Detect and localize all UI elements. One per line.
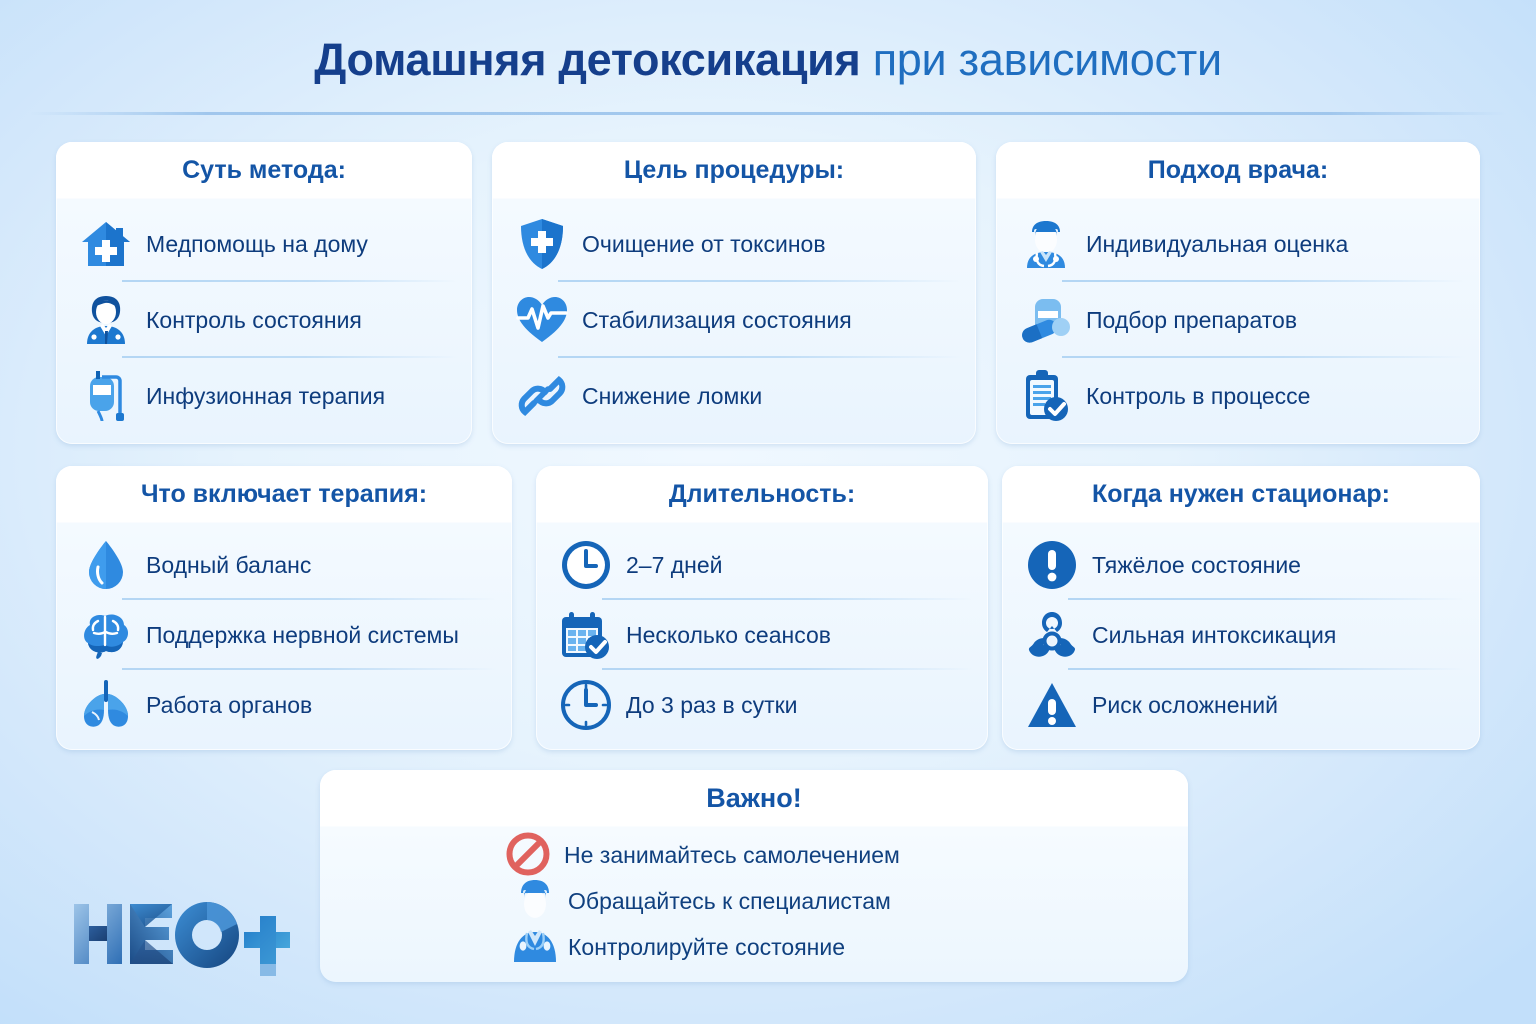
- list-item[interactable]: Инфузионная терапия: [56, 358, 472, 434]
- card-tsel-protsedury: Цель процедуры: Очищение от токсинов Ста…: [492, 142, 976, 444]
- list-item[interactable]: Не занимайтесь самолечением: [320, 832, 1188, 878]
- lungs-icon: [78, 677, 134, 733]
- house-cross-icon: [78, 216, 134, 272]
- water-drop-icon: [78, 537, 134, 593]
- list-item-label: Индивидуальная оценка: [1086, 231, 1348, 258]
- biohazard-icon: [1024, 607, 1080, 663]
- card-body: Тяжёлое состояние Сильная интоксикация: [1002, 522, 1480, 740]
- list-item[interactable]: Стабилизация состояния: [492, 282, 976, 358]
- list-item[interactable]: 2–7 дней: [536, 530, 988, 600]
- list-item[interactable]: Контроль в процессе: [996, 358, 1480, 434]
- brain-icon: [78, 607, 134, 663]
- clipboard-check-icon: [1018, 368, 1074, 424]
- exclamation-circle-icon: [1024, 537, 1080, 593]
- list-item[interactable]: Медпомощь на дому: [56, 206, 472, 282]
- list-item-label: Несколько сеансов: [626, 622, 831, 649]
- list-item[interactable]: Риск осложнений: [1002, 670, 1480, 740]
- page-title-strong: Домашняя детоксикация: [314, 34, 860, 85]
- list-item[interactable]: Подбор препаратов: [996, 282, 1480, 358]
- card-header: Цель процедуры:: [492, 142, 976, 198]
- card-podkhod-vracha: Подход врача: Индивидуальная оценка: [996, 142, 1480, 444]
- list-item-label: Риск осложнений: [1092, 692, 1278, 719]
- card-body: Медпомощь на дому Контроль состояния: [56, 198, 472, 434]
- card-chto-vklyuchaet-terapiya: Что включает терапия: Водный баланс: [56, 466, 512, 750]
- list-item[interactable]: Обращайтесь к специалистам: [320, 878, 1188, 924]
- heart-pulse-icon: [514, 292, 570, 348]
- card-header: Важно!: [320, 770, 1188, 826]
- medical-staff-icon: [510, 876, 560, 964]
- card-kogda-nuzhen-statsionar: Когда нужен стационар: Тяжёлое состояние: [1002, 466, 1480, 750]
- doctor-person-icon: [78, 292, 134, 348]
- list-item[interactable]: Работа органов: [56, 670, 512, 740]
- page-title-light: при зависимости: [861, 34, 1222, 85]
- card-header: Суть метода:: [56, 142, 472, 198]
- clock-icon: [558, 537, 614, 593]
- card-header: Длительность:: [536, 466, 988, 522]
- list-item-label: Работа органов: [146, 692, 312, 719]
- list-item-label: Водный баланс: [146, 552, 311, 579]
- card-body: Очищение от токсинов Стабилизация состоя…: [492, 198, 976, 434]
- list-item-label: 2–7 дней: [626, 552, 723, 579]
- card-vazhno: Важно! Не занимайтесь самол: [320, 770, 1188, 982]
- calendar-check-icon: [558, 607, 614, 663]
- chain-link-icon: [514, 368, 570, 424]
- pills-icon: [1018, 292, 1074, 348]
- list-item-label: Инфузионная терапия: [146, 383, 385, 410]
- list-item[interactable]: Снижение ломки: [492, 358, 976, 434]
- list-item-label: Медпомощь на дому: [146, 231, 368, 258]
- prohibition-icon: [506, 832, 550, 876]
- important-list: Не занимайтесь самолечением Обращайтесь …: [320, 826, 1188, 970]
- card-header: Подход врача:: [996, 142, 1480, 198]
- list-item[interactable]: Поддержка нервной системы: [56, 600, 512, 670]
- list-item[interactable]: Контролируйте состояние: [320, 924, 1188, 970]
- list-item-label: До 3 раз в сутки: [626, 692, 798, 719]
- list-item[interactable]: Очищение от токсинов: [492, 206, 976, 282]
- list-item-label: Контролируйте состояние: [568, 934, 845, 961]
- list-item-label: Не занимайтесь самолечением: [564, 842, 900, 869]
- card-header: Что включает терапия:: [56, 466, 512, 522]
- list-item[interactable]: Водный баланс: [56, 530, 512, 600]
- page-title: Домашняя детоксикация при зависимости: [0, 34, 1536, 86]
- card-header: Когда нужен стационар:: [1002, 466, 1480, 522]
- card-dlitelnost: Длительность: 2–7 дней: [536, 466, 988, 750]
- list-item-label: Тяжёлое состояние: [1092, 552, 1301, 579]
- card-body: Индивидуальная оценка Подбор препаратов: [996, 198, 1480, 434]
- list-item-label: Обращайтесь к специалистам: [568, 888, 891, 915]
- list-item-label: Сильная интоксикация: [1092, 622, 1336, 649]
- list-item[interactable]: Индивидуальная оценка: [996, 206, 1480, 282]
- card-body: 2–7 дней Нескольк: [536, 522, 988, 740]
- shield-cross-icon: [514, 216, 570, 272]
- doctor-stethoscope-icon: [1018, 216, 1074, 272]
- list-item[interactable]: До 3 раз в сутки: [536, 670, 988, 740]
- card-body: Водный баланс Поддержка: [56, 522, 512, 740]
- list-item[interactable]: Тяжёлое состояние: [1002, 530, 1480, 600]
- list-item-label: Подбор препаратов: [1086, 307, 1297, 334]
- list-item-label: Стабилизация состояния: [582, 307, 852, 334]
- list-item[interactable]: Контроль состояния: [56, 282, 472, 358]
- list-item-label: Контроль состояния: [146, 307, 362, 334]
- list-item-label: Снижение ломки: [582, 383, 762, 410]
- list-item-label: Очищение от токсинов: [582, 231, 826, 258]
- list-item-label: Контроль в процессе: [1086, 383, 1310, 410]
- logo-neo-plus[interactable]: [70, 898, 290, 976]
- clock-outline-icon: [558, 677, 614, 733]
- title-divider: [30, 112, 1506, 115]
- iv-drip-icon: [78, 368, 134, 424]
- warning-triangle-icon: [1024, 677, 1080, 733]
- list-item[interactable]: Несколько сеансов: [536, 600, 988, 670]
- card-sut-metoda: Суть метода: Медпомощь на дому: [56, 142, 472, 444]
- list-item-label: Поддержка нервной системы: [146, 622, 459, 649]
- list-item[interactable]: Сильная интоксикация: [1002, 600, 1480, 670]
